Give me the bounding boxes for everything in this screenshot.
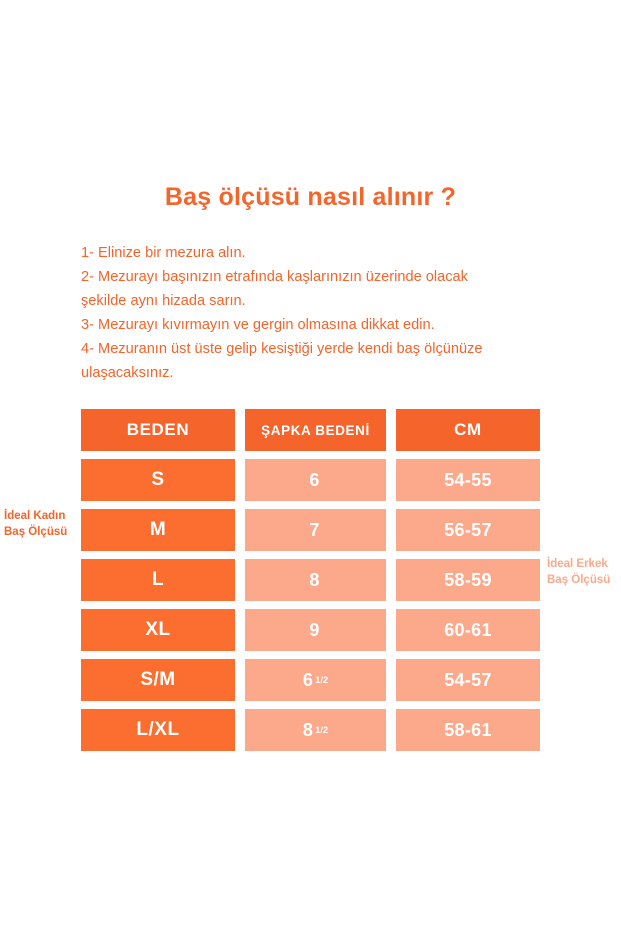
table-row: XL 9 60-61 [81,609,540,651]
instruction-line: 4- Mezuranın üst üste gelip kesiştiği ye… [81,337,551,361]
cell-sapka-bedeni: 81/2 [245,709,386,751]
cell-beden: M [81,509,235,551]
page-title: Baş ölçüsü nasıl alınır ? [0,183,621,212]
instruction-line: 1- Elinize bir mezura alın. [81,241,551,265]
cell-sapka-fraction: 1/2 [315,675,328,685]
table-row: S/M 61/2 54-57 [81,659,540,701]
men-head-size-label-line1: İdeal Erkek [547,556,621,572]
table-row: L/XL 81/2 58-61 [81,709,540,751]
cell-sapka-value: 7 [309,520,319,541]
cell-sapka-bedeni: 8 [245,559,386,601]
column-header-sapka-bedeni: ŞAPKA BEDENİ [245,409,386,451]
cell-beden: XL [81,609,235,651]
women-head-size-label-line1: İdeal Kadın [4,508,78,524]
cell-sapka-bedeni: 61/2 [245,659,386,701]
cell-beden: L [81,559,235,601]
cell-sapka-bedeni: 9 [245,609,386,651]
cell-beden: S [81,459,235,501]
table-row: L 8 58-59 [81,559,540,601]
cell-sapka-fraction: 1/2 [315,725,328,735]
table-header-row: BEDEN ŞAPKA BEDENİ CM [81,409,540,451]
men-head-size-label-line2: Baş Ölçüsü [547,572,621,588]
men-head-size-label: İdeal Erkek Baş Ölçüsü [547,556,621,588]
cell-cm: 58-61 [396,709,540,751]
cell-sapka-value: 6 [309,470,319,491]
cell-beden: L/XL [81,709,235,751]
instruction-line: 2- Mezurayı başınızın etrafında kaşların… [81,265,551,289]
measurement-instructions: 1- Elinize bir mezura alın. 2- Mezurayı … [81,241,551,385]
cell-sapka-value: 6 [303,670,313,691]
cell-cm: 58-59 [396,559,540,601]
cell-sapka-bedeni: 7 [245,509,386,551]
cell-cm: 54-57 [396,659,540,701]
cell-cm: 56-57 [396,509,540,551]
size-table: BEDEN ŞAPKA BEDENİ CM S 6 54-55 M 7 56-5… [81,409,540,751]
cell-beden: S/M [81,659,235,701]
size-guide-page: Baş ölçüsü nasıl alınır ? 1- Elinize bir… [0,0,621,931]
cell-cm: 60-61 [396,609,540,651]
women-head-size-label-line2: Baş Ölçüsü [4,524,78,540]
cell-sapka-value: 8 [303,720,313,741]
column-header-beden: BEDEN [81,409,235,451]
instruction-line: ulaşacaksınız. [81,361,551,385]
cell-sapka-bedeni: 6 [245,459,386,501]
table-row: S 6 54-55 [81,459,540,501]
table-row: M 7 56-57 [81,509,540,551]
cell-sapka-value: 9 [309,620,319,641]
cell-sapka-value: 8 [309,570,319,591]
column-header-cm: CM [396,409,540,451]
cell-cm: 54-55 [396,459,540,501]
instruction-line: şekilde aynı hizada sarın. [81,289,551,313]
women-head-size-label: İdeal Kadın Baş Ölçüsü [4,508,78,540]
instruction-line: 3- Mezurayı kıvırmayın ve gergin olmasın… [81,313,551,337]
